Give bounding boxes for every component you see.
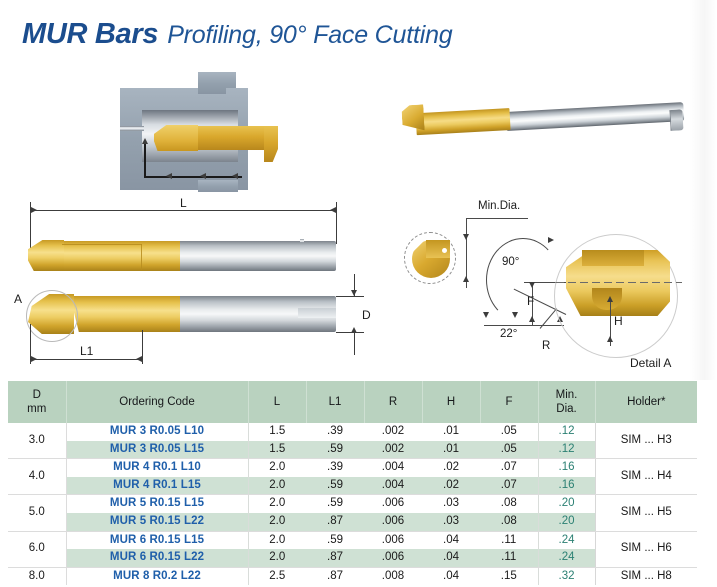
l-dimension-label: L [180, 196, 187, 210]
cell-holder: SIM ... H5 [595, 495, 697, 531]
cell-l: 2.0 [248, 531, 306, 549]
cell-ordering-code: MUR 6 R0.15 L15 [66, 531, 248, 549]
cell-f: .05 [480, 441, 538, 459]
lead-angle-arrow-bottom [483, 312, 489, 318]
tool-shank [194, 126, 276, 150]
cell-l1: .59 [306, 441, 364, 459]
col-header-ordering-code: Ordering Code [66, 381, 248, 423]
cell-f: .08 [480, 495, 538, 513]
table-row: 6.0MUR 6 R0.15 L152.0.59.006.04.11.24SIM… [8, 531, 697, 549]
cell-r: .004 [364, 477, 422, 495]
cell-h: .02 [422, 459, 480, 477]
cell-r: .002 [364, 423, 422, 441]
l1-dimension-label: L1 [80, 344, 93, 358]
cell-diameter: 5.0 [8, 495, 66, 531]
upper-view-gold-body [62, 241, 180, 271]
toolpath-arrow-left-2 [200, 173, 206, 179]
cell-ordering-code: MUR 3 R0.05 L15 [66, 441, 248, 459]
cell-l1: .59 [306, 531, 364, 549]
tool-rear-step [264, 126, 278, 162]
cell-ordering-code: MUR 8 R0.2 L22 [66, 567, 248, 585]
cell-min-dia: .20 [538, 495, 595, 513]
lower-view-gold-body [70, 296, 180, 332]
table-row: 8.0MUR 8 R0.2 L222.5.87.008.04.15.32SIM … [8, 567, 697, 585]
cell-min-dia: .16 [538, 459, 595, 477]
cell-min-dia: .12 [538, 423, 595, 441]
table-row: 5.0MUR 5 R0.15 L152.0.59.006.03.08.20SIM… [8, 495, 697, 513]
l1-arrow-left [31, 356, 37, 362]
d-extension-top [336, 296, 364, 297]
l-dimension-line [30, 210, 337, 211]
toolpath-vertical-line [144, 144, 146, 177]
table-row: MUR 5 R0.15 L222.0.87.006.03.08.20 [8, 513, 697, 531]
cell-r: .006 [364, 495, 422, 513]
cell-min-dia: .16 [538, 477, 595, 495]
cell-ordering-code: MUR 6 R0.15 L22 [66, 549, 248, 567]
col-header-d: D mm [8, 381, 66, 423]
cell-l: 2.0 [248, 549, 306, 567]
toolpath-arrow-left-1 [166, 173, 172, 179]
cell-h: .04 [422, 549, 480, 567]
d-dimension-line-lower [354, 333, 355, 355]
toolpath-horizontal-line [144, 176, 242, 178]
clearance-angle-label: 22° [500, 328, 517, 340]
table-header-row: D mm Ordering Code L L1 R [8, 381, 697, 423]
cell-f: .05 [480, 423, 538, 441]
cell-holder: SIM ... H4 [595, 459, 697, 495]
min-dia-label: Min.Dia. [478, 200, 520, 212]
cell-diameter: 6.0 [8, 531, 66, 567]
cell-min-dia: .12 [538, 441, 595, 459]
cell-h: .04 [422, 567, 480, 585]
cell-ordering-code: MUR 4 R0.1 L15 [66, 477, 248, 495]
cell-r: .006 [364, 549, 422, 567]
cell-ordering-code: MUR 4 R0.1 L10 [66, 459, 248, 477]
cell-f: .08 [480, 513, 538, 531]
l-arrow-left [31, 207, 37, 213]
cell-diameter: 3.0 [8, 423, 66, 459]
cell-holder: SIM ... H6 [595, 531, 697, 567]
upper-view-shank-notch [300, 239, 304, 243]
cell-f: .07 [480, 459, 538, 477]
lead-angle-label: 90° [502, 256, 519, 268]
cell-h: .01 [422, 441, 480, 459]
photo-shank-end-face [669, 109, 683, 131]
cell-r: .006 [364, 531, 422, 549]
d-arrow-down [351, 290, 357, 296]
dimension-side-views: L A L1 D [6, 196, 372, 376]
cell-min-dia: .20 [538, 513, 595, 531]
table-row: 3.0MUR 3 R0.05 L101.5.39.002.01.05.12SIM… [8, 423, 697, 441]
detail-a-centerline [556, 282, 682, 283]
cell-l1: .39 [306, 423, 364, 441]
specification-table: D mm Ordering Code L L1 R [8, 381, 697, 585]
cell-l: 2.0 [248, 495, 306, 513]
table-row: MUR 6 R0.15 L222.0.87.006.04.11.24 [8, 549, 697, 567]
cell-l1: .39 [306, 459, 364, 477]
cell-l: 1.5 [248, 441, 306, 459]
min-dia-arrow-top [463, 234, 469, 240]
cell-r: .002 [364, 441, 422, 459]
workpiece-lower-step [198, 180, 238, 192]
bore-lead-slot [120, 126, 144, 131]
col-header-r: R [364, 381, 422, 423]
photo-cutting-tip [401, 104, 424, 131]
cell-l1: .87 [306, 567, 364, 585]
upper-view-flute-end [141, 244, 142, 270]
col-header-h: H [422, 381, 480, 423]
cell-l1: .87 [306, 549, 364, 567]
clearance-angle-arrow [512, 312, 518, 318]
h-arrow-bottom [607, 336, 613, 342]
cell-l1: .59 [306, 477, 364, 495]
d-extension-bottom [336, 332, 364, 333]
cell-f: .11 [480, 549, 538, 567]
table-body: 3.0MUR 3 R0.05 L101.5.39.002.01.05.12SIM… [8, 423, 697, 585]
cell-h: .02 [422, 477, 480, 495]
detail-a-callout-label: A [14, 292, 22, 306]
detail-a-callout-circle [26, 290, 78, 342]
col-header-holder: Holder* [595, 381, 697, 423]
cell-diameter: 4.0 [8, 459, 66, 495]
page-title: MUR BarsProfiling, 90° Face Cutting [22, 18, 453, 51]
radius-label: R [542, 340, 550, 352]
cell-l: 2.0 [248, 513, 306, 531]
f-dimension-label: F [527, 294, 534, 308]
cell-ordering-code: MUR 5 R0.15 L15 [66, 495, 248, 513]
l1-dimension-line [30, 359, 143, 360]
cell-f: .11 [480, 531, 538, 549]
cell-l: 2.5 [248, 567, 306, 585]
cell-ordering-code: MUR 5 R0.15 L22 [66, 513, 248, 531]
cell-l1: .59 [306, 495, 364, 513]
mur-boring-bar-product-photo [398, 86, 684, 158]
cell-r: .008 [364, 567, 422, 585]
cell-h: .03 [422, 513, 480, 531]
l-arrow-right [330, 207, 336, 213]
col-header-min-dia: Min. Dia. [538, 381, 595, 423]
specification-table-wrapper: D mm Ordering Code L L1 R [8, 381, 697, 585]
table-row: 4.0MUR 4 R0.1 L102.0.39.004.02.07.16SIM … [8, 459, 697, 477]
cell-l: 2.0 [248, 459, 306, 477]
cell-f: .07 [480, 477, 538, 495]
catalog-page: MUR BarsProfiling, 90° Face Cutting [0, 0, 717, 587]
bore-profiling-cross-section-illustration [104, 72, 322, 190]
toolpath-arrow-up [142, 138, 148, 144]
min-dia-arrow-bottom [463, 276, 469, 282]
d-arrow-up [351, 327, 357, 333]
photo-gold-coated-head [416, 108, 511, 135]
cell-l: 1.5 [248, 423, 306, 441]
cell-min-dia: .24 [538, 531, 595, 549]
l-extension-right [336, 202, 337, 244]
upper-view-shank [178, 241, 336, 271]
detail-a-view: Min.Dia. 90° 22° R F [396, 188, 710, 374]
f-arrow-top [529, 282, 535, 288]
cell-ordering-code: MUR 3 R0.05 L10 [66, 423, 248, 441]
col-header-f: F [480, 381, 538, 423]
cell-min-dia: .32 [538, 567, 595, 585]
detail-a-caption: Detail A [630, 356, 671, 370]
lead-angle-arc [486, 238, 560, 322]
upper-view-flute-line-1 [62, 244, 142, 245]
f-arrow-bottom [529, 316, 535, 322]
lead-angle-arrow-top [548, 237, 554, 243]
lower-view-shank-notch [298, 308, 336, 318]
l1-arrow-right [136, 356, 142, 362]
cell-l1: .87 [306, 513, 364, 531]
page-title-subtitle: Profiling, 90° Face Cutting [167, 21, 452, 49]
cell-r: .006 [364, 513, 422, 531]
table-row: MUR 4 R0.1 L152.0.59.004.02.07.16 [8, 477, 697, 495]
cell-holder: SIM ... H3 [595, 423, 697, 459]
clearance-baseline [484, 325, 564, 326]
end-view-coolant-dot [442, 248, 447, 253]
upper-view-gold-taper [28, 240, 64, 271]
cell-holder: SIM ... H8 [595, 567, 697, 585]
cell-f: .15 [480, 567, 538, 585]
cell-min-dia: .24 [538, 549, 595, 567]
cell-h: .04 [422, 531, 480, 549]
toolpath-arrow-left-3 [232, 173, 238, 179]
cell-h: .01 [422, 423, 480, 441]
detail-a-insert-topface [582, 250, 644, 266]
h-dimension-label: H [614, 314, 623, 328]
table-row: MUR 3 R0.05 L151.5.59.002.01.05.12 [8, 441, 697, 459]
cell-diameter: 8.0 [8, 567, 66, 585]
h-arrow-top [607, 296, 613, 302]
cell-h: .03 [422, 495, 480, 513]
page-title-main: MUR Bars [22, 18, 158, 50]
cell-r: .004 [364, 459, 422, 477]
min-dia-leader-horizontal [466, 218, 528, 219]
photo-steel-shank [505, 102, 684, 131]
col-header-l: L [248, 381, 306, 423]
col-header-l1: L1 [306, 381, 364, 423]
cell-l: 2.0 [248, 477, 306, 495]
d-dimension-label: D [362, 308, 371, 322]
